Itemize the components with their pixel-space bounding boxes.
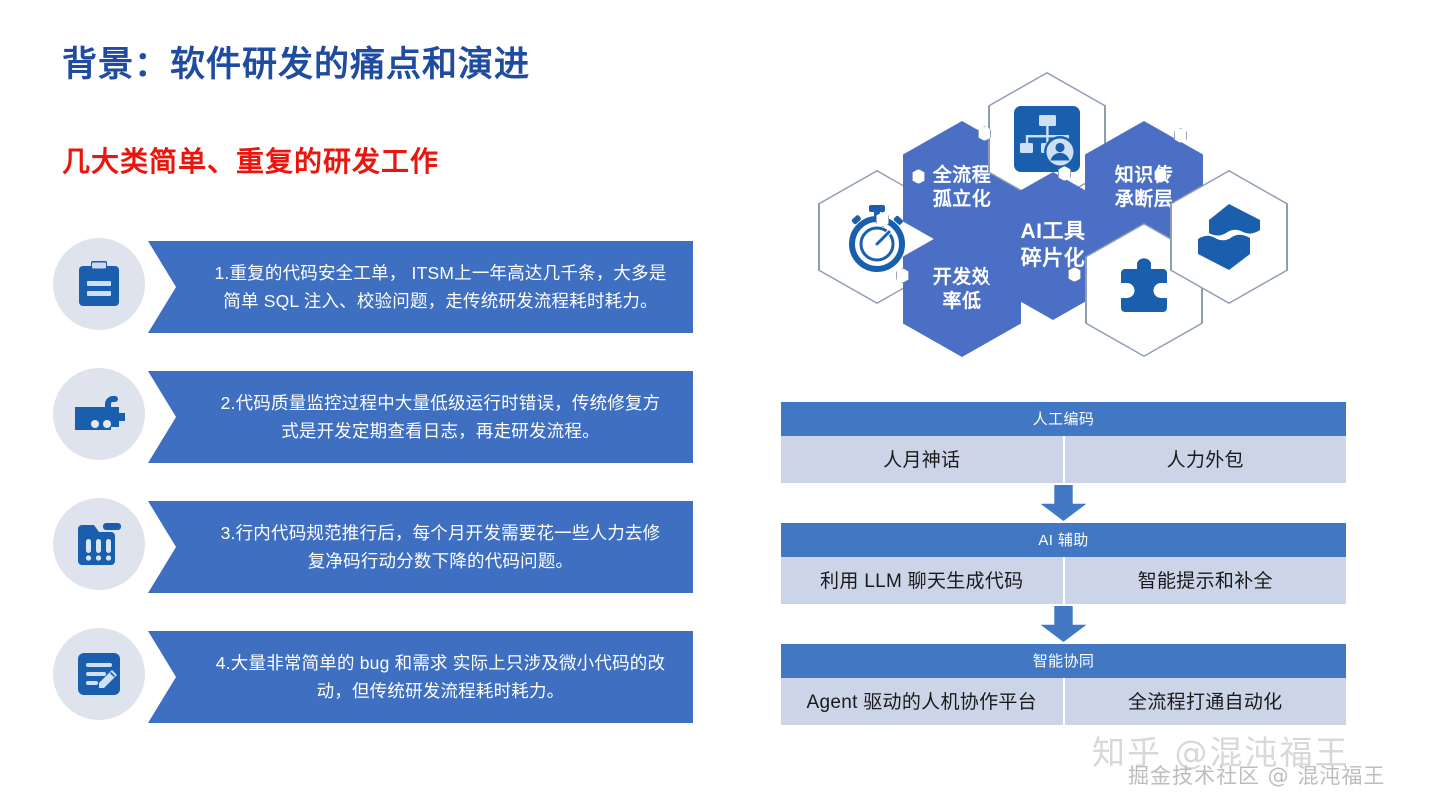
evolution-flow-diagram: 人工编码 人月神话 人力外包 AI 辅助 利用 LLM 聊天生成代码 智能提示和… <box>781 402 1346 725</box>
flow-stage-body: Agent 驱动的人机协作平台 全流程打通自动化 <box>781 678 1346 725</box>
bullet-icon-wrapper <box>53 628 145 720</box>
page-title: 背景：软件研发的痛点和演进 <box>62 36 530 87</box>
stopwatch-icon <box>843 202 911 272</box>
hex-line: 全流程 <box>933 165 992 186</box>
bullet-line: 1.重复的代码安全工单， ITSM上一年高达几千条，大多是 <box>214 263 666 283</box>
hex-line: 孤立化 <box>933 189 992 210</box>
hex-line: 碎片化 <box>1021 247 1086 270</box>
flow-cell: 智能提示和补全 <box>1063 557 1347 604</box>
clipboard-icon <box>73 258 125 310</box>
list-item[interactable]: 1.重复的代码安全工单， ITSM上一年高达几千条，大多是 简单 SQL 注入、… <box>53 238 693 340</box>
hex-label-text: AI工具 碎片化 <box>1021 219 1086 273</box>
bullet-line: 2.代码质量监控过程中大量低级运行时错误，传统修复方 <box>221 393 661 413</box>
video-camera-icon <box>71 391 127 437</box>
org-chart-user-icon <box>1012 104 1082 174</box>
hex-line: 率低 <box>942 291 981 312</box>
list-item[interactable]: 2.代码质量监控过程中大量低级运行时错误，传统修复方 式是开发定期查看日志，再走… <box>53 368 693 470</box>
flow-arrow-down <box>781 483 1346 523</box>
flow-stage-body: 利用 LLM 聊天生成代码 智能提示和补全 <box>781 557 1346 604</box>
flow-cell: 人月神话 <box>781 436 1063 483</box>
list-item[interactable]: 4.大量非常简单的 bug 和需求 实际上只涉及微小代码的改 动，但传统研发流程… <box>53 628 693 730</box>
hex-label-text: 全流程 孤立化 <box>933 164 992 213</box>
hex-line: 承断层 <box>1115 189 1174 210</box>
flow-cell: 人力外包 <box>1063 436 1347 483</box>
bullet-icon-wrapper <box>53 498 145 590</box>
bullet-line: 式是开发定期查看日志，再走研发流程。 <box>281 421 600 441</box>
bullet-banner: 3.行内代码规范推行后，每个月开发需要花一些人力去修 复净码行动分数下降的代码问… <box>148 501 693 593</box>
hexagon-cluster: 全流程 孤立化 开发效 率低 <box>800 58 1310 378</box>
page-subtitle: 几大类简单、重复的研发工作 <box>62 140 439 180</box>
flow-cell: 利用 LLM 聊天生成代码 <box>781 557 1063 604</box>
watermark-zhihu: 知乎 @混沌福王 <box>1092 726 1350 774</box>
bullet-text-4: 4.大量非常简单的 bug 和需求 实际上只涉及微小代码的改 动，但传统研发流程… <box>216 649 665 706</box>
flow-arrow-down <box>781 604 1346 644</box>
folder-alert-icon <box>73 519 125 569</box>
flow-stage-ai-assist[interactable]: AI 辅助 利用 LLM 聊天生成代码 智能提示和补全 <box>781 523 1346 604</box>
hex-line: 开发效 <box>933 267 992 288</box>
hex-label-text: 开发效 率低 <box>933 266 992 315</box>
flow-stage-header: AI 辅助 <box>781 523 1346 557</box>
bullet-line: 动，但传统研发流程耗时耗力。 <box>317 681 565 701</box>
bullet-icon-wrapper <box>53 238 145 330</box>
bullet-icon-wrapper <box>53 368 145 460</box>
puzzle-piece-icon <box>1111 257 1177 323</box>
bullet-line: 复净码行动分数下降的代码问题。 <box>308 551 574 571</box>
hex-wave[interactable] <box>1170 170 1288 304</box>
bullet-text-1: 1.重复的代码安全工单， ITSM上一年高达几千条，大多是 简单 SQL 注入、… <box>214 259 666 316</box>
bullet-text-2: 2.代码质量监控过程中大量低级运行时错误，传统修复方 式是开发定期查看日志，再走… <box>221 389 661 446</box>
bullet-text-3: 3.行内代码规范推行后，每个月开发需要花一些人力去修 复净码行动分数下降的代码问… <box>221 519 661 576</box>
bullet-banner: 4.大量非常简单的 bug 和需求 实际上只涉及微小代码的改 动，但传统研发流程… <box>148 631 693 723</box>
document-edit-icon <box>74 649 124 699</box>
flow-stage-manual-coding[interactable]: 人工编码 人月神话 人力外包 <box>781 402 1346 483</box>
bullet-banner: 2.代码质量监控过程中大量低级运行时错误，传统修复方 式是开发定期查看日志，再走… <box>148 371 693 463</box>
flow-stage-body: 人月神话 人力外包 <box>781 436 1346 483</box>
bullet-line: 3.行内代码规范推行后，每个月开发需要花一些人力去修 <box>221 523 661 543</box>
flow-stage-header: 人工编码 <box>781 402 1346 436</box>
wave-hexagon-icon <box>1192 200 1266 274</box>
bullet-line: 简单 SQL 注入、校验问题，走传统研发流程耗时耗力。 <box>223 291 658 311</box>
flow-stage-intelligent-collab[interactable]: 智能协同 Agent 驱动的人机协作平台 全流程打通自动化 <box>781 644 1346 725</box>
flow-cell: 全流程打通自动化 <box>1063 678 1347 725</box>
watermark-juejin: 掘金技术社区 @ 混沌福王 <box>1128 760 1385 790</box>
flow-cell: Agent 驱动的人机协作平台 <box>781 678 1063 725</box>
pain-point-list: 1.重复的代码安全工单， ITSM上一年高达几千条，大多是 简单 SQL 注入、… <box>53 238 693 758</box>
hex-line: AI工具 <box>1021 220 1086 243</box>
bullet-banner: 1.重复的代码安全工单， ITSM上一年高达几千条，大多是 简单 SQL 注入、… <box>148 241 693 333</box>
list-item[interactable]: 3.行内代码规范推行后，每个月开发需要花一些人力去修 复净码行动分数下降的代码问… <box>53 498 693 600</box>
flow-stage-header: 智能协同 <box>781 644 1346 678</box>
bullet-line: 4.大量非常简单的 bug 和需求 实际上只涉及微小代码的改 <box>216 653 665 673</box>
